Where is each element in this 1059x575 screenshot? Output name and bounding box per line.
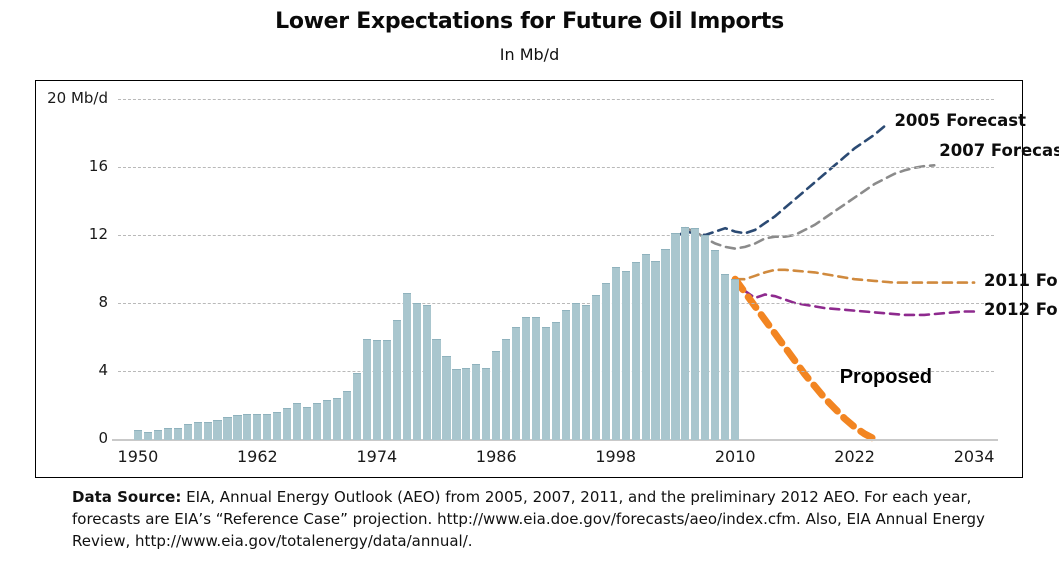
y-axis-tick-label: 16	[36, 157, 108, 175]
gridline	[118, 303, 994, 304]
bar	[522, 317, 530, 440]
bar	[542, 327, 550, 440]
y-axis-tick-label: 8	[36, 293, 108, 311]
bar	[233, 415, 241, 440]
x-axis-tick-label: 2022	[815, 447, 895, 466]
bar	[612, 267, 620, 440]
bar	[532, 317, 540, 440]
y-axis-tick-label: 0	[36, 429, 108, 447]
bar	[492, 351, 500, 440]
bar	[661, 249, 669, 440]
y-axis-tick-label: 12	[36, 225, 108, 243]
series-label: Proposed	[840, 366, 932, 389]
bar	[622, 271, 630, 440]
bar	[253, 414, 261, 441]
bar	[642, 254, 650, 440]
bar	[144, 432, 152, 440]
bar	[691, 228, 699, 440]
bar	[423, 305, 431, 440]
bar	[632, 262, 640, 440]
bar	[462, 368, 470, 440]
series-label: 2012 Forcast	[984, 300, 1059, 319]
x-axis-tick-label: 1950	[98, 447, 178, 466]
bar	[323, 400, 331, 440]
bar	[592, 295, 600, 441]
x-axis-tick-label: 2034	[934, 447, 1014, 466]
forecast-line	[685, 165, 934, 248]
series-label: 2007 Forecast	[939, 141, 1059, 160]
chart-subtitle: In Mb/d	[0, 45, 1059, 64]
bar	[582, 305, 590, 440]
bar	[373, 340, 381, 440]
bar	[602, 283, 610, 440]
gridline	[118, 235, 994, 236]
bar	[562, 310, 570, 440]
bar	[383, 340, 391, 440]
bar	[293, 403, 301, 440]
data-source-label: Data Source:	[72, 488, 181, 506]
bar	[711, 250, 719, 440]
bar	[273, 412, 281, 440]
bar	[243, 414, 251, 440]
bar	[512, 327, 520, 440]
x-axis-tick-label: 1986	[456, 447, 536, 466]
forecast-line	[675, 126, 884, 237]
forecast-line	[735, 270, 974, 283]
bar	[482, 368, 490, 440]
bar	[413, 303, 421, 440]
bar	[303, 407, 311, 440]
bar	[213, 420, 221, 440]
bar	[432, 339, 440, 440]
bar	[363, 339, 371, 440]
bar	[701, 235, 709, 440]
bar	[204, 422, 212, 440]
forecast-line	[735, 279, 974, 315]
plot-area: 048121620 Mb/d19501962197419861998201020…	[36, 81, 1024, 479]
bar	[552, 322, 560, 440]
bar	[194, 422, 202, 440]
bar	[283, 408, 291, 440]
bar	[403, 293, 411, 440]
bar	[333, 398, 341, 440]
bar	[393, 320, 401, 440]
x-axis-tick-label: 1962	[217, 447, 297, 466]
bar	[671, 233, 679, 440]
page-title: Lower Expectations for Future Oil Import…	[0, 9, 1059, 34]
bar	[681, 227, 689, 441]
bar	[353, 373, 361, 440]
y-axis-tick-label: 4	[36, 361, 108, 379]
bar	[134, 430, 142, 440]
gridline	[118, 167, 994, 168]
bar	[472, 364, 480, 440]
bar	[263, 414, 271, 441]
bar	[223, 417, 231, 440]
series-label: 2011 Forcast	[984, 271, 1059, 290]
x-axis-tick-label: 1974	[337, 447, 417, 466]
bar	[313, 403, 321, 440]
bar	[731, 279, 739, 440]
x-axis-tick-label: 2010	[695, 447, 775, 466]
data-source-footnote: Data Source: EIA, Annual Energy Outlook …	[72, 487, 1022, 552]
bar	[452, 369, 460, 440]
bar	[184, 424, 192, 440]
bar	[154, 430, 162, 440]
bar	[164, 428, 172, 440]
x-axis-tick-label: 1998	[576, 447, 656, 466]
bar	[721, 274, 729, 440]
y-axis-tick-label: 20 Mb/d	[36, 89, 108, 107]
gridline	[118, 99, 994, 100]
bar	[572, 303, 580, 440]
bar	[442, 356, 450, 440]
bar	[174, 428, 182, 440]
bar	[651, 261, 659, 441]
bar	[502, 339, 510, 440]
chart-frame: 048121620 Mb/d19501962197419861998201020…	[35, 80, 1023, 478]
bar	[343, 391, 351, 440]
data-source-text: EIA, Annual Energy Outlook (AEO) from 20…	[72, 488, 985, 550]
series-label: 2005 Forecast	[894, 111, 1026, 130]
